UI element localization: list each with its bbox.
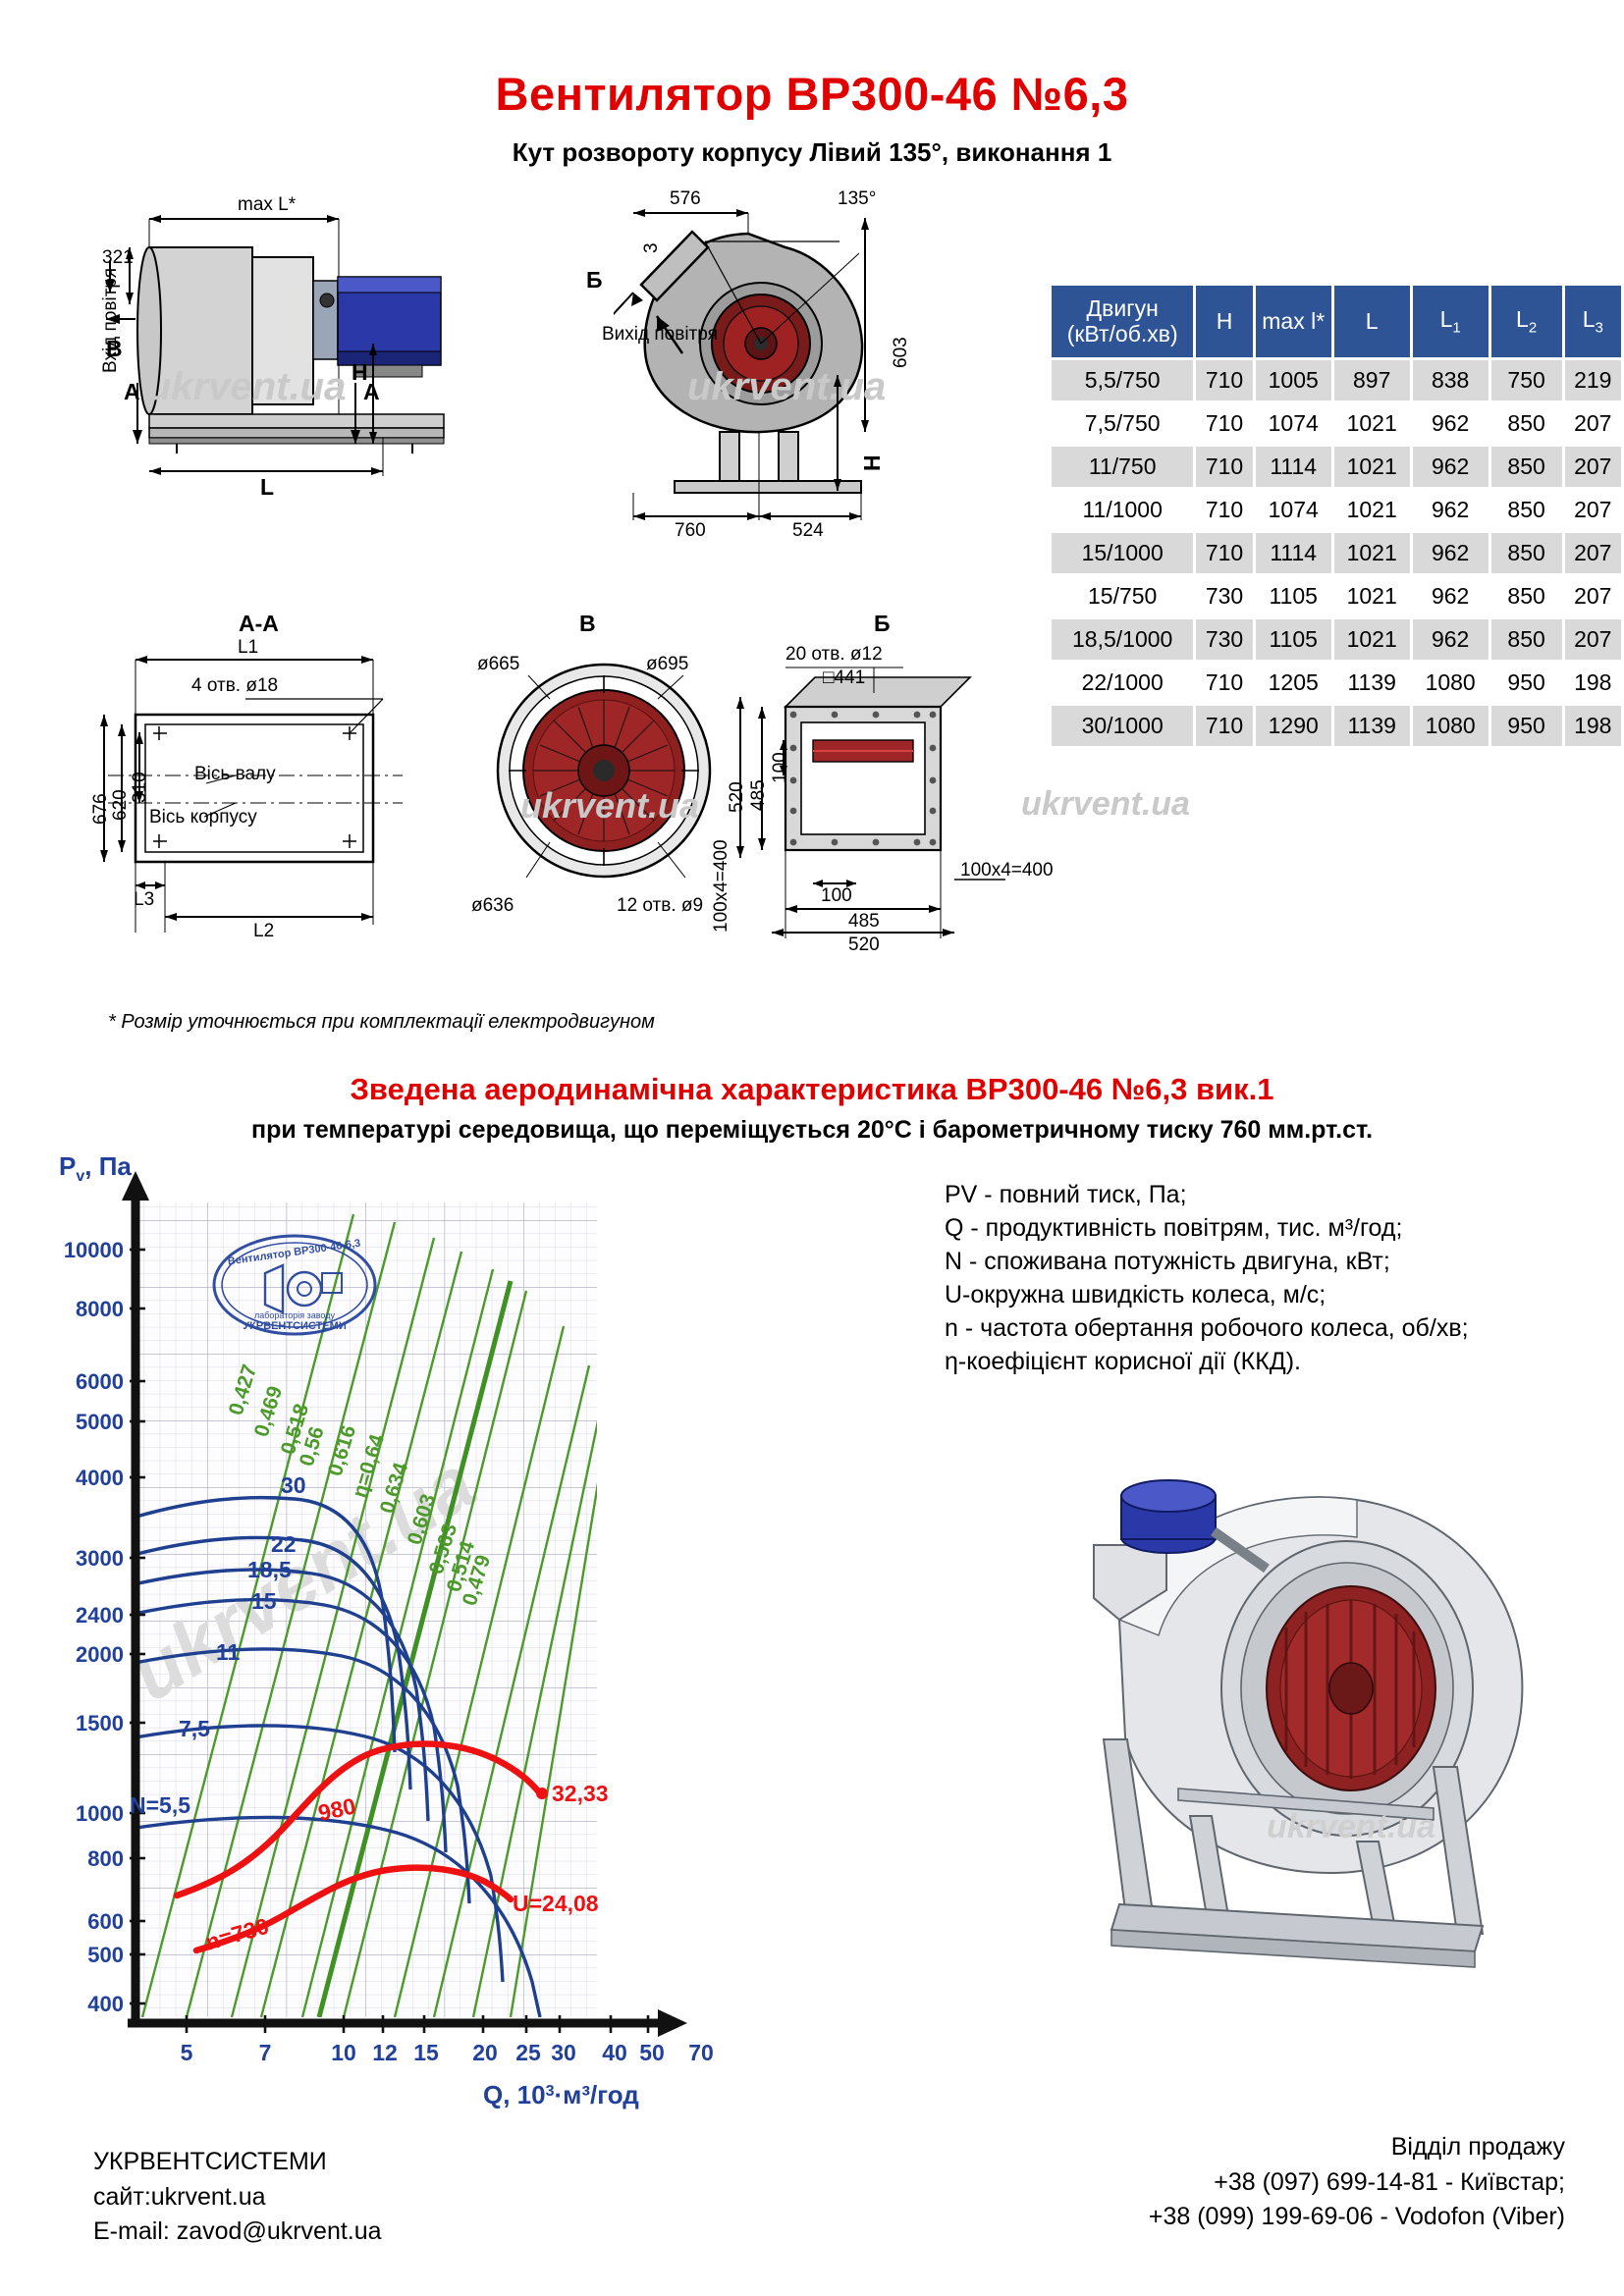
y-tick: 4000 (76, 1466, 124, 1490)
chart-subtitle: при температурі середовища, що переміщує… (0, 1116, 1624, 1145)
footer-phone-kyivstar[interactable]: +38 (097) 699-14-81 - Київстар; (1149, 2165, 1565, 2201)
cell-l: 1021 (1334, 403, 1410, 444)
cell-h: 710 (1196, 490, 1252, 530)
dim-576: 576 (670, 188, 701, 210)
cell-h: 710 (1196, 706, 1252, 746)
dim-angle-135: 135° (838, 188, 876, 210)
cell-maxl: 1105 (1256, 576, 1331, 616)
col-header-h: H (1196, 286, 1252, 357)
cell-l3: 207 (1565, 403, 1621, 444)
cell-l3: 207 (1565, 533, 1621, 573)
dim-620: 620 (110, 789, 132, 821)
x-tick: 10 (331, 2040, 356, 2065)
dim-max-l: max L* (238, 194, 296, 216)
dim-l3: L3 (134, 889, 154, 911)
table-row: 15/1000 710 1114 1021 962 850 207 (1052, 533, 1621, 573)
cell-l2: 950 (1491, 663, 1562, 703)
col-header-maxl: max l* (1256, 286, 1331, 357)
dim-485-bottom: 485 (848, 911, 880, 933)
caption-view-b: Б (874, 611, 891, 637)
footer-contacts-block: Відділ продажу +38 (097) 699-14-81 - Киї… (1149, 2130, 1565, 2235)
y-tick: 3000 (76, 1546, 124, 1571)
y-axis-label: Pv, Па (59, 1153, 132, 1185)
cell-l3: 219 (1565, 360, 1621, 400)
cell-motor: 11/1000 (1052, 490, 1193, 530)
x-tick: 5 (181, 2040, 193, 2065)
x-axis-label: Q, 103·м³/год (483, 2080, 639, 2109)
label-shaft-axis: Вісь валу (194, 764, 276, 785)
x-tick: 70 (688, 2040, 714, 2065)
label-holes-12: 12 отв. ø9 (617, 895, 703, 917)
cell-h: 710 (1196, 360, 1252, 400)
cell-l1: 962 (1413, 447, 1489, 487)
cell-l3: 207 (1565, 619, 1621, 660)
cell-maxl: 1114 (1256, 533, 1331, 573)
y-tick: 10000 (64, 1238, 124, 1262)
aerodynamic-chart: ukrvent.ua (49, 1153, 982, 2115)
cell-l3: 207 (1565, 447, 1621, 487)
col-header-l1: L1 (1413, 286, 1489, 357)
cell-h: 710 (1196, 403, 1252, 444)
legend-item-pv: PV - повний тиск, Па; (945, 1178, 1469, 1211)
drawing-front-view: 576 135° 603 Н 3 Б Вихід повітря 760 524 (614, 187, 1026, 618)
cell-l3: 207 (1565, 490, 1621, 530)
cell-maxl: 1074 (1256, 490, 1331, 530)
cell-motor: 15/1000 (1052, 533, 1193, 573)
x-tick: 25 (515, 2040, 541, 2065)
label-body-axis: Вісь корпусу (149, 807, 257, 828)
footer-sales-title: Відділ продажу (1149, 2130, 1565, 2165)
footer-site[interactable]: сайт:ukrvent.ua (93, 2180, 382, 2216)
table-row: 30/1000 710 1290 1139 1080 950 198 (1052, 706, 1621, 746)
dim-100x4-vertical: 100х4=400 (711, 839, 732, 933)
power-label: 18,5 (247, 1557, 292, 1582)
cell-h: 710 (1196, 533, 1252, 573)
dim-d695: ø695 (646, 654, 688, 675)
cell-maxl: 1290 (1256, 706, 1331, 746)
chart-legend: PV - повний тиск, Па; Q - продуктивність… (945, 1178, 1469, 1378)
power-label: N=5,5 (130, 1792, 190, 1818)
cell-l1: 1080 (1413, 663, 1489, 703)
fan-3d-illustration: ukrvent.ua (972, 1443, 1561, 1993)
x-tick: 20 (472, 2040, 498, 2065)
cell-maxl: 1005 (1256, 360, 1331, 400)
cell-l3: 198 (1565, 663, 1621, 703)
dim-100-bottom: 100 (821, 885, 852, 907)
cell-l: 1021 (1334, 447, 1410, 487)
y-tick: 6000 (76, 1369, 124, 1394)
drawing-section-aa: А-А L1 4 отв. ø18 676 620 310 Вісь валу … (88, 638, 511, 962)
dim-h-front: Н (859, 454, 886, 471)
cell-l: 1021 (1334, 576, 1410, 616)
page-subtitle: Кут розвороту корпусу Лівий 135°, викона… (0, 137, 1624, 168)
x-tick: 12 (372, 2040, 398, 2065)
y-tick: 5000 (76, 1410, 124, 1434)
legend-item-speed: n - частота обертання робочого колеса, о… (945, 1311, 1469, 1345)
cell-l2: 850 (1491, 576, 1562, 616)
x-tick: 7 (259, 2040, 272, 2065)
dim-l-side: L (260, 474, 274, 501)
drawing-view-v: В ø665 ø695 ø636 12 отв. ø9 (481, 638, 736, 933)
dim-l2: L2 (253, 921, 274, 942)
cell-h: 730 (1196, 576, 1252, 616)
x-tick: 30 (551, 2040, 576, 2065)
power-label: 7,5 (179, 1716, 210, 1741)
y-tick: 600 (87, 1909, 124, 1934)
datasheet-page: Вентилятор ВР300-46 №6,3 Кут розвороту к… (0, 0, 1624, 2296)
footer-company-name: УКРВЕНТСИСТЕМИ (93, 2145, 382, 2180)
legend-item-eta: η-коефіцієнт корисної дії (ККД). (945, 1345, 1469, 1378)
cell-l: 1021 (1334, 619, 1410, 660)
dim-d665: ø665 (477, 654, 519, 675)
footer-phone-vodafone[interactable]: +38 (099) 199-69-06 - Vodofon (Viber) (1149, 2200, 1565, 2235)
y-tick: 8000 (76, 1297, 124, 1321)
cell-l: 1021 (1334, 490, 1410, 530)
dim-310: 310 (130, 772, 151, 803)
footer-company-block: УКРВЕНТСИСТЕМИ сайт:ukrvent.ua E-mail: z… (93, 2145, 382, 2250)
cell-l1: 1080 (1413, 706, 1489, 746)
label-sq441: □441 (823, 667, 865, 689)
speed-endpoint: U=24,08 (513, 1891, 599, 1916)
mark-view-v: В (106, 336, 123, 362)
dim-485-left: 485 (748, 779, 770, 811)
power-label: 30 (281, 1472, 306, 1498)
col-header-motor: Двигун (кВт/об.хв) (1052, 286, 1193, 357)
cell-motor: 5,5/750 (1052, 360, 1193, 400)
cell-l3: 207 (1565, 576, 1621, 616)
cell-l2: 850 (1491, 619, 1562, 660)
power-label: 11 (216, 1639, 241, 1665)
dim-h-side: Н (352, 359, 368, 386)
x-tick: 15 (413, 2040, 439, 2065)
x-tick: 50 (639, 2040, 665, 2065)
drawing-side-view: max L* 321 Вхід повітря В A A Н L (88, 187, 638, 618)
power-label: 15 (251, 1588, 277, 1614)
cell-l3: 198 (1565, 706, 1621, 746)
cell-motor: 15/750 (1052, 576, 1193, 616)
dim-603: 603 (891, 337, 912, 368)
mark-section-a-left: A (124, 379, 140, 405)
svg-text:лабораторія заводу: лабораторія заводу (254, 1310, 336, 1320)
specification-table: Двигун (кВт/об.хв) H max l* L L1 L2 L3 5… (1049, 283, 1624, 749)
cell-l: 1139 (1334, 663, 1410, 703)
table-row: 15/750 730 1105 1021 962 850 207 (1052, 576, 1621, 616)
cell-l2: 850 (1491, 533, 1562, 573)
y-tick: 500 (87, 1943, 124, 1967)
power-label: 22 (271, 1531, 297, 1557)
caption-section-aa: А-А (239, 611, 279, 637)
chart-title: Зведена аеродинамічна характеристика ВР3… (0, 1072, 1624, 1107)
cell-l2: 950 (1491, 706, 1562, 746)
footnote-dimension: * Розмір уточнюється при комплектації ел… (108, 1011, 655, 1034)
y-tick: 800 (87, 1846, 124, 1871)
dim-321: 321 (102, 247, 134, 269)
label-holes-4: 4 отв. ø18 (191, 675, 278, 697)
cell-l2: 750 (1491, 360, 1562, 400)
cell-l1: 962 (1413, 576, 1489, 616)
label-holes-20: 20 отв. ø12 (785, 644, 883, 666)
cell-l2: 850 (1491, 403, 1562, 444)
cell-l1: 962 (1413, 403, 1489, 444)
table-row: 18,5/1000 730 1105 1021 962 850 207 (1052, 619, 1621, 660)
dim-676: 676 (90, 793, 112, 825)
legend-item-n: N - споживана потужність двигуна, кВт; (945, 1245, 1469, 1278)
dim-760: 760 (675, 520, 706, 542)
cell-l: 1021 (1334, 533, 1410, 573)
cell-l1: 962 (1413, 490, 1489, 530)
speed-endpoint: 32,33 (552, 1781, 609, 1806)
dim-d636: ø636 (471, 895, 514, 917)
y-tick: 1500 (76, 1711, 124, 1735)
cell-h: 710 (1196, 663, 1252, 703)
svg-text:УКРВЕНТСИСТЕМИ: УКРВЕНТСИСТЕМИ (243, 1320, 347, 1332)
dim-520-bottom: 520 (848, 934, 880, 956)
table-row: 11/750 710 1114 1021 962 850 207 (1052, 447, 1621, 487)
table-row: 22/1000 710 1205 1139 1080 950 198 (1052, 663, 1621, 703)
watermark: ukrvent.ua (1267, 1808, 1435, 1845)
y-tick: 2400 (76, 1603, 124, 1628)
cell-maxl: 1074 (1256, 403, 1331, 444)
cell-maxl: 1105 (1256, 619, 1331, 660)
dim-100-left: 100 (770, 752, 791, 783)
cell-motor: 7,5/750 (1052, 403, 1193, 444)
cell-l: 1139 (1334, 706, 1410, 746)
table-row: 7,5/750 710 1074 1021 962 850 207 (1052, 403, 1621, 444)
page-title: Вентилятор ВР300-46 №6,3 (0, 67, 1624, 121)
caption-view-v: В (579, 611, 596, 637)
y-tick: 400 (87, 1992, 124, 2016)
footer-email[interactable]: E-mail: zavod@ukrvent.ua (93, 2215, 382, 2250)
cell-l: 897 (1334, 360, 1410, 400)
col-header-l: L (1334, 286, 1410, 357)
cell-l1: 838 (1413, 360, 1489, 400)
col-header-l2: L2 (1491, 286, 1562, 357)
mark-view-b: Б (586, 267, 603, 294)
cell-l2: 850 (1491, 447, 1562, 487)
cell-maxl: 1205 (1256, 663, 1331, 703)
x-tick: 40 (602, 2040, 627, 2065)
dim-l1: L1 (238, 637, 258, 659)
cell-maxl: 1114 (1256, 447, 1331, 487)
legend-item-q: Q - продуктивність повітрям, тис. м³/год… (945, 1211, 1469, 1245)
label-air-outlet: Вихід повітря (602, 324, 718, 346)
dim-3: 3 (641, 242, 663, 253)
cell-l2: 850 (1491, 490, 1562, 530)
dim-520-left: 520 (727, 781, 748, 813)
y-tick: 1000 (76, 1801, 124, 1826)
cell-l1: 962 (1413, 619, 1489, 660)
table-row: 11/1000 710 1074 1021 962 850 207 (1052, 490, 1621, 530)
table-body: 5,5/750 710 1005 897 838 750 219 7,5/750… (1052, 360, 1621, 746)
table-header-row: Двигун (кВт/об.хв) H max l* L L1 L2 L3 (1052, 286, 1621, 357)
cell-motor: 11/750 (1052, 447, 1193, 487)
cell-l1: 962 (1413, 533, 1489, 573)
cell-h: 730 (1196, 619, 1252, 660)
cell-motor: 30/1000 (1052, 706, 1193, 746)
cell-motor: 22/1000 (1052, 663, 1193, 703)
y-tick: 2000 (76, 1642, 124, 1667)
table-row: 5,5/750 710 1005 897 838 750 219 (1052, 360, 1621, 400)
legend-item-u: U-окружна швидкість колеса, м/с; (945, 1278, 1469, 1311)
cell-motor: 18,5/1000 (1052, 619, 1193, 660)
dim-524: 524 (792, 520, 824, 542)
cell-h: 710 (1196, 447, 1252, 487)
col-header-l3: L3 (1565, 286, 1621, 357)
dim-100x4-horizontal: 100х4=400 (960, 860, 1054, 881)
